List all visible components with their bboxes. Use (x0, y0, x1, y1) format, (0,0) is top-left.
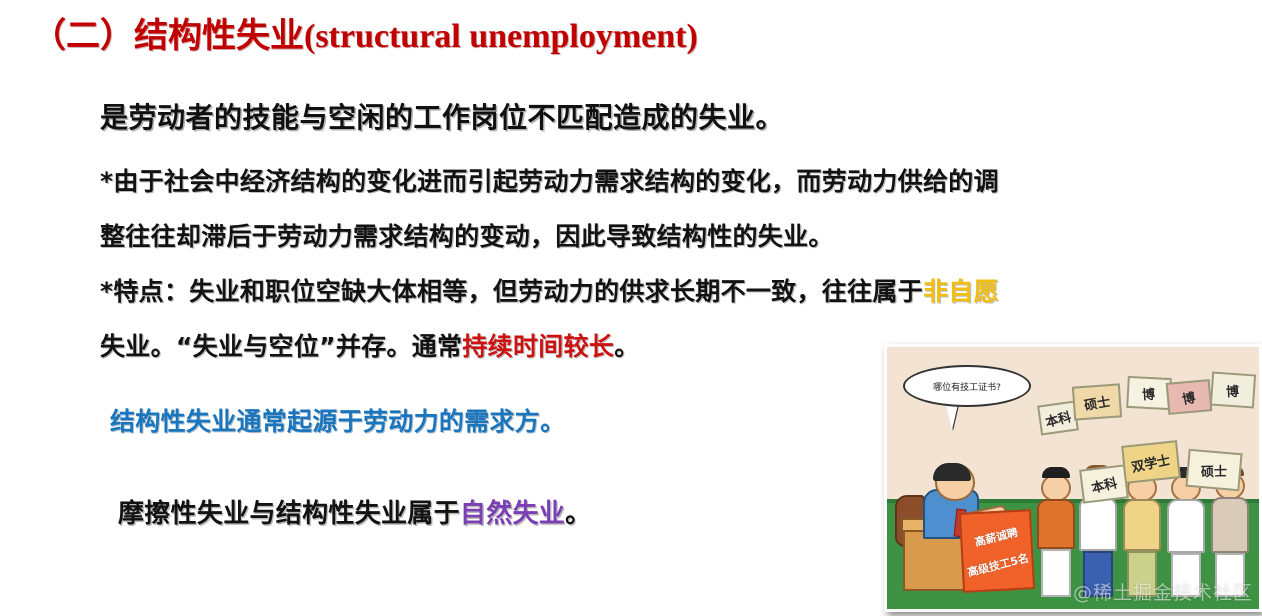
title-chinese: 结构性失业 (134, 16, 304, 56)
crowd-sign-4: 博 (1210, 372, 1256, 409)
applicant-head-0 (1041, 474, 1071, 502)
body-text-block: 是劳动者的技能与空闲的工作岗位不匹配造成的失业。 *由于社会中经济结构的变化进而… (100, 96, 1250, 374)
crowd-sign-label-4: 博 (1226, 380, 1240, 399)
title-english: (structural unemployment) (304, 18, 698, 55)
applicant-body-3 (1167, 499, 1205, 553)
crowd-sign-label-1: 硕士 (1083, 390, 1112, 413)
paragraph-line-2: 整往往却滞后于劳动力需求结构的变动，因此导致结构性的失业。 (100, 209, 1250, 264)
slide-root: （二）结构性失业(structural unemployment) 是劳动者的技… (0, 0, 1262, 616)
job-posting-sign: 高薪诚聘 高级技工5名 (959, 509, 1035, 593)
final-highlight-natural-unemployment: 自然失业 (460, 499, 565, 529)
crowd-sign-3: 博 (1166, 379, 1213, 415)
crowd-sign-5: 双学士 (1121, 440, 1181, 484)
title-prefix: （二） (32, 16, 134, 56)
crowd-sign-6: 硕士 (1185, 449, 1242, 492)
blue-note: 结构性失业通常起源于劳动力的需求方。 (110, 402, 565, 438)
final-note-text: 摩擦性失业与结构性失业属于 (118, 499, 460, 529)
feature-highlight-involuntary: 非自愿 (923, 277, 999, 306)
applicant-body-1 (1079, 497, 1117, 551)
crowd-sign-1: 硕士 (1072, 383, 1122, 420)
applicant-body-4 (1211, 497, 1249, 553)
feature-line-2-suffix: 。 (614, 332, 639, 361)
applicant-crowd: 本科 硕士 博 博 博 双学士 硕士 (1035, 347, 1259, 609)
crowd-sign-label-3: 博 (1181, 386, 1197, 407)
feature-highlight-duration: 持续时间较长 (462, 332, 614, 361)
lead-sentence: 是劳动者的技能与空闲的工作岗位不匹配造成的失业。 (100, 96, 1250, 140)
applicant-0 (1037, 467, 1075, 597)
crowd-sign-label-7: 本科 (1089, 472, 1119, 496)
crowd-sign-label-6: 硕士 (1201, 460, 1227, 479)
feature-line-1: *特点：失业和职位空缺大体相等，但劳动力的供求长期不一致，往往属于非自愿 (100, 264, 1250, 319)
applicant-hair-0 (1042, 467, 1070, 478)
page-title: （二）结构性失业(structural unemployment) (32, 8, 698, 57)
crowd-sign-2: 博 (1126, 376, 1172, 410)
speech-bubble: 哪位有技工证书? (903, 365, 1031, 407)
cartoon-illustration: 哪位有技工证书? 高薪诚聘 高级技工5名 本科 硕士 (884, 344, 1262, 612)
final-note: 摩擦性失业与结构性失业属于自然失业。 (118, 493, 591, 530)
paragraph-line-1: *由于社会中经济结构的变化进而引起劳动力需求结构的变化，而劳动力供给的调 (100, 154, 1250, 209)
job-sign-line-2: 高级技工5名 (965, 550, 1030, 581)
speech-bubble-text: 哪位有技工证书? (933, 380, 1001, 393)
final-note-suffix: 。 (565, 499, 591, 529)
cartoon-canvas: 哪位有技工证书? 高薪诚聘 高级技工5名 本科 硕士 (887, 347, 1259, 609)
feature-line-1-text: *特点：失业和职位空缺大体相等，但劳动力的供求长期不一致，往往属于 (100, 277, 923, 306)
crowd-sign-7: 本科 (1079, 464, 1129, 503)
applicant-body-0 (1037, 499, 1075, 549)
recruiter-hair (933, 463, 971, 481)
crowd-sign-label-2: 博 (1142, 383, 1156, 403)
crowd-sign-label-5: 双学士 (1130, 449, 1172, 476)
applicant-body-2 (1123, 499, 1161, 551)
applicant-legs-0 (1041, 549, 1071, 597)
job-sign-line-1: 高薪诚聘 (973, 524, 1020, 550)
watermark: @稀土掘金技术社区 (1073, 578, 1253, 605)
feature-line-2-text: 失业。“失业与空位”并存。通常 (100, 332, 462, 361)
crowd-sign-label-0: 本科 (1043, 406, 1073, 431)
